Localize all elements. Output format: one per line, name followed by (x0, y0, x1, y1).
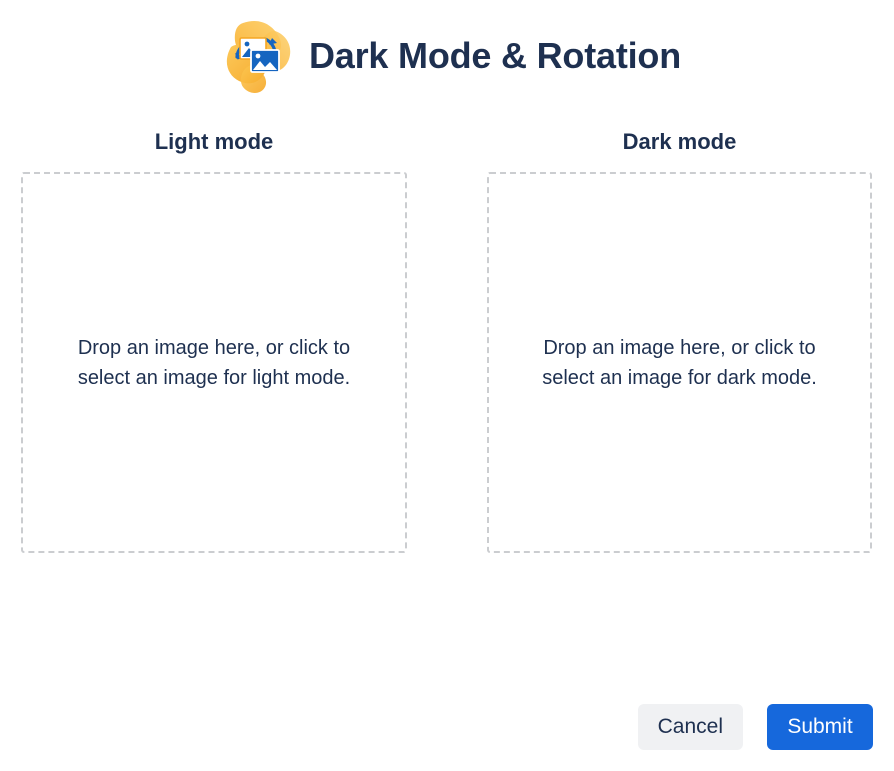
cancel-button[interactable]: Cancel (638, 704, 743, 750)
app-logo (213, 13, 299, 99)
dark-mode-heading: Dark mode (487, 120, 872, 153)
light-mode-dropzone[interactable]: Drop an image here, or click to select a… (21, 172, 407, 553)
page-title: Dark Mode & Rotation (309, 38, 681, 74)
mode-columns: Light mode Dark mode Drop an image here,… (21, 120, 872, 553)
light-mode-dropzone-label: Drop an image here, or click to select a… (59, 333, 369, 393)
dropzone-gap (407, 172, 487, 553)
dark-mode-dropzone-label: Drop an image here, or click to select a… (525, 333, 835, 393)
light-mode-heading: Light mode (21, 120, 407, 153)
column-headings-row: Light mode Dark mode (21, 120, 872, 153)
image-rotation-icon (213, 13, 299, 99)
heading-gap (407, 120, 487, 153)
page-header: Dark Mode & Rotation (0, 0, 894, 112)
footer-actions: Cancel Submit (0, 704, 894, 750)
dropzones-row: Drop an image here, or click to select a… (21, 172, 872, 553)
dark-mode-dropzone[interactable]: Drop an image here, or click to select a… (487, 172, 872, 553)
submit-button[interactable]: Submit (767, 704, 873, 750)
